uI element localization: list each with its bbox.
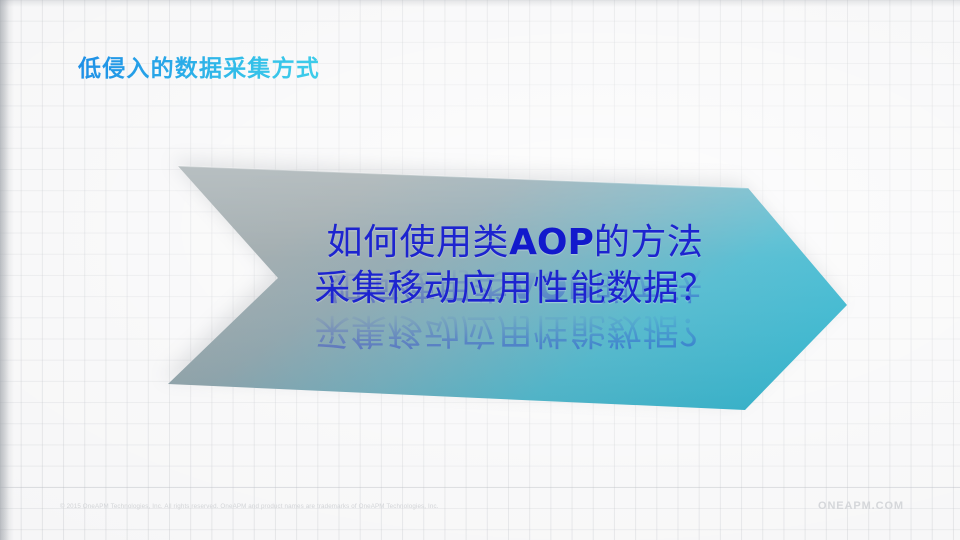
- banner-line-2-wrap: 采集移动应用性能数据？ 采集移动应用性能数据？: [280, 268, 750, 310]
- footer-divider: [0, 487, 960, 488]
- page-title: 低侵入的数据采集方式: [78, 55, 320, 84]
- banner-headline-block: 如何使用类AOP的方法 如何使用类AOP的方法 采集移动应用性能数据？ 采集移动…: [280, 222, 750, 310]
- banner-line-2: 采集移动应用性能数据？: [280, 268, 750, 310]
- slide-top-edge-shadow: [0, 0, 960, 7]
- banner-line-2-prefix: 采集移动应用性能数据？: [314, 268, 716, 309]
- footer-site-logo: ONEAPM.COM: [818, 500, 904, 512]
- banner-line-1-suffix: 的方法: [594, 222, 704, 263]
- banner-line-1-wrap: 如何使用类AOP的方法 如何使用类AOP的方法: [280, 222, 750, 264]
- banner-line-1-emphasis: AOP: [509, 222, 594, 263]
- slide-left-edge-shadow: [0, 0, 9, 540]
- footer-copyright: © 2015 OneAPM Technologies, Inc. All rig…: [60, 503, 439, 510]
- banner-line-1-prefix: 如何使用类: [327, 222, 510, 263]
- banner-line-1: 如何使用类AOP的方法: [280, 222, 750, 264]
- slide-canvas: 低侵入的数据采集方式: [0, 0, 960, 540]
